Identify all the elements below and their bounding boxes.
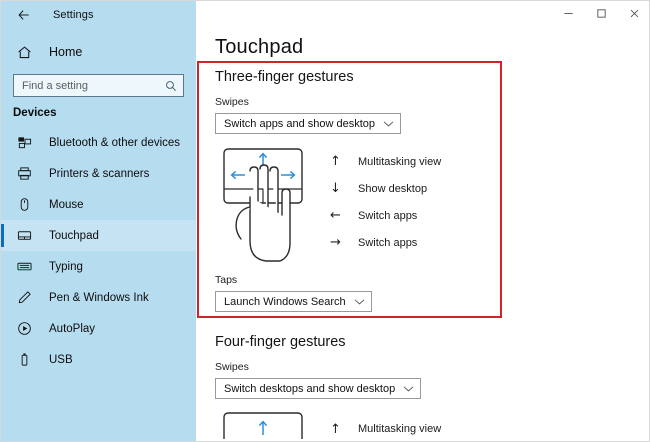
gesture-row: ↑ Multitasking view — [330, 148, 441, 175]
three-finger-taps-dropdown[interactable]: Launch Windows Search — [215, 291, 372, 312]
gesture-action-label: Switch apps — [358, 210, 417, 222]
gesture-row: → Switch apps — [330, 229, 441, 256]
sidebar-item-home-label: Home — [49, 45, 82, 59]
sidebar-item-label: Printers & scanners — [49, 168, 149, 180]
title-bar: Settings — [1, 1, 650, 28]
sidebar-item-bluetooth-other-devices[interactable]: Bluetooth & other devices — [1, 127, 196, 158]
title-bar-left: Settings — [1, 1, 196, 28]
swipes-label-three-finger: Swipes — [215, 96, 650, 108]
pen-icon — [13, 288, 35, 308]
maximize-button[interactable] — [585, 1, 618, 25]
usb-icon — [13, 350, 35, 370]
gesture-row: ← Switch apps — [330, 202, 441, 229]
search-placeholder: Find a setting — [22, 80, 165, 92]
three-finger-gestures-section: Three-finger gestures Swipes Switch apps… — [196, 69, 650, 312]
sidebar-item-mouse[interactable]: Mouse — [1, 189, 196, 220]
sidebar-item-label: Pen & Windows Ink — [49, 292, 149, 304]
three-finger-gesture-list: ↑ Multitasking view ↓ Show desktop ← Swi… — [330, 145, 441, 263]
four-finger-touchpad-diagram — [220, 409, 312, 439]
sidebar-item-typing[interactable]: Typing — [1, 251, 196, 282]
page-title: Touchpad — [215, 36, 650, 59]
four-finger-gesture-list: ↑ Multitasking view — [330, 409, 441, 441]
sidebar-item-label: AutoPlay — [49, 323, 95, 335]
sidebar-item-label: Typing — [49, 261, 83, 273]
sidebar-item-pen-windows-ink[interactable]: Pen & Windows Ink — [1, 282, 196, 313]
sidebar-group-header: Devices — [1, 107, 196, 119]
three-finger-taps-value: Launch Windows Search — [224, 296, 346, 308]
home-icon — [13, 42, 35, 62]
close-button[interactable] — [618, 1, 650, 25]
arrow-up-icon: ↑ — [330, 154, 350, 169]
touchpad-icon — [13, 226, 35, 246]
autoplay-icon — [13, 319, 35, 339]
mouse-icon — [13, 195, 35, 215]
settings-window: Settings — [0, 0, 650, 442]
keyboard-icon — [13, 257, 35, 277]
gesture-action-label: Switch apps — [358, 237, 417, 249]
four-finger-gestures-section: Four-finger gestures Swipes Switch deskt… — [196, 334, 650, 441]
four-finger-swipes-dropdown[interactable]: Switch desktops and show desktop — [215, 378, 421, 399]
chevron-down-icon — [354, 298, 365, 306]
chevron-down-icon — [403, 385, 414, 393]
window-controls — [196, 1, 650, 28]
chevron-down-icon — [383, 120, 394, 128]
taps-label-three-finger: Taps — [215, 274, 650, 286]
gesture-row: ↑ Multitasking view — [330, 417, 441, 441]
four-finger-swipes-value: Switch desktops and show desktop — [224, 383, 395, 395]
minimize-button[interactable] — [552, 1, 585, 25]
sidebar-item-home[interactable]: Home — [1, 36, 196, 68]
sidebar-item-printers-scanners[interactable]: Printers & scanners — [1, 158, 196, 189]
sidebar-item-label: Bluetooth & other devices — [49, 137, 180, 149]
section-title-three-finger: Three-finger gestures — [215, 69, 650, 85]
app-title: Settings — [53, 9, 94, 21]
sidebar-item-usb[interactable]: USB — [1, 344, 196, 375]
gesture-action-label: Show desktop — [358, 183, 427, 195]
three-finger-swipes-dropdown[interactable]: Switch apps and show desktop — [215, 113, 401, 134]
back-arrow-icon[interactable] — [13, 4, 35, 26]
sidebar: Home Find a setting Devices — [1, 28, 196, 442]
swipes-label-four-finger: Swipes — [215, 361, 650, 373]
search-container: Find a setting — [1, 74, 196, 97]
search-icon[interactable] — [165, 80, 177, 92]
three-finger-swipes-value: Switch apps and show desktop — [224, 118, 375, 130]
sidebar-item-label: Touchpad — [49, 230, 99, 242]
printer-icon — [13, 164, 35, 184]
gesture-row: ↓ Show desktop — [330, 175, 441, 202]
arrow-left-icon: ← — [330, 208, 350, 223]
bluetooth-devices-icon — [13, 133, 35, 153]
three-finger-gesture-block: ↑ Multitasking view ↓ Show desktop ← Swi… — [220, 145, 650, 263]
four-finger-gesture-block: ↑ Multitasking view — [220, 409, 650, 441]
sidebar-item-label: USB — [49, 354, 73, 366]
three-finger-touchpad-diagram — [220, 145, 312, 263]
gesture-action-label: Multitasking view — [358, 156, 441, 168]
section-title-four-finger: Four-finger gestures — [215, 334, 650, 350]
search-input[interactable]: Find a setting — [13, 74, 184, 97]
arrow-down-icon: ↓ — [330, 181, 350, 196]
arrow-right-icon: → — [330, 235, 350, 250]
arrow-up-icon: ↑ — [330, 422, 350, 437]
sidebar-item-autoplay[interactable]: AutoPlay — [1, 313, 196, 344]
sidebar-item-label: Mouse — [49, 199, 84, 211]
gesture-action-label: Multitasking view — [358, 423, 441, 435]
sidebar-item-touchpad[interactable]: Touchpad — [1, 220, 196, 251]
main-content: Touchpad Three-finger gestures Swipes Sw… — [196, 28, 650, 442]
